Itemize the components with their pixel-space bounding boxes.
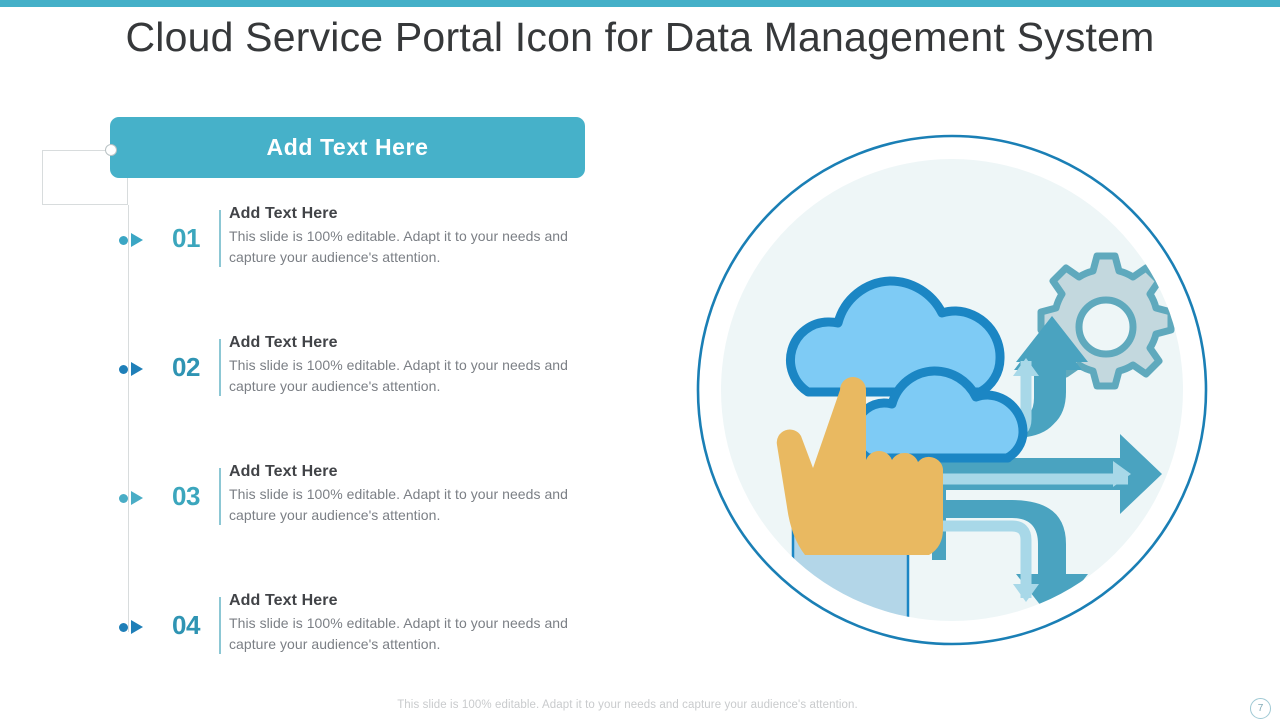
page-number-badge: 7 <box>1250 698 1271 719</box>
item-divider <box>219 210 221 267</box>
add-text-header-button[interactable]: Add Text Here <box>110 117 585 178</box>
item-divider <box>219 339 221 396</box>
list-item[interactable]: 04 Add Text Here This slide is 100% edit… <box>0 592 640 672</box>
item-number: 01 <box>172 223 216 254</box>
add-text-header-label: Add Text Here <box>266 134 428 161</box>
item-divider <box>219 468 221 525</box>
bullet-dot-icon <box>119 494 128 503</box>
left-content-panel: Add Text Here 01 Add Text Here This slid… <box>0 100 640 670</box>
item-heading: Add Text Here <box>229 592 604 610</box>
item-text-block: Add Text Here This slide is 100% editabl… <box>229 463 604 525</box>
item-text-block: Add Text Here This slide is 100% editabl… <box>229 205 604 267</box>
item-number: 02 <box>172 352 216 383</box>
item-heading: Add Text Here <box>229 334 604 352</box>
item-number: 03 <box>172 481 216 512</box>
cloud-service-portal-icon <box>690 128 1214 652</box>
bullet-triangle-icon <box>131 491 143 505</box>
bullet-dot-icon <box>119 365 128 374</box>
bullet-marker-1 <box>119 233 149 247</box>
item-text-block: Add Text Here This slide is 100% editabl… <box>229 592 604 654</box>
bullet-triangle-icon <box>131 362 143 376</box>
top-accent-bar <box>0 0 1280 7</box>
footer-note: This slide is 100% editable. Adapt it to… <box>0 699 1255 711</box>
bullet-marker-3 <box>119 491 149 505</box>
bullet-dot-icon <box>119 623 128 632</box>
bullet-marker-2 <box>119 362 149 376</box>
bullet-triangle-icon <box>131 233 143 247</box>
list-item[interactable]: 01 Add Text Here This slide is 100% edit… <box>0 205 640 285</box>
bullet-dot-icon <box>119 236 128 245</box>
bullet-triangle-icon <box>131 620 143 634</box>
item-body: This slide is 100% editable. Adapt it to… <box>229 484 604 525</box>
connector-dot <box>105 144 117 156</box>
item-divider <box>219 597 221 654</box>
list-item[interactable]: 03 Add Text Here This slide is 100% edit… <box>0 463 640 543</box>
item-body: This slide is 100% editable. Adapt it to… <box>229 226 604 267</box>
bullet-marker-4 <box>119 620 149 634</box>
page-title: Cloud Service Portal Icon for Data Manag… <box>0 14 1280 61</box>
item-number: 04 <box>172 610 216 641</box>
item-body: This slide is 100% editable. Adapt it to… <box>229 355 604 396</box>
item-body: This slide is 100% editable. Adapt it to… <box>229 613 604 654</box>
item-heading: Add Text Here <box>229 205 604 223</box>
item-heading: Add Text Here <box>229 463 604 481</box>
item-text-block: Add Text Here This slide is 100% editabl… <box>229 334 604 396</box>
list-item[interactable]: 02 Add Text Here This slide is 100% edit… <box>0 334 640 414</box>
